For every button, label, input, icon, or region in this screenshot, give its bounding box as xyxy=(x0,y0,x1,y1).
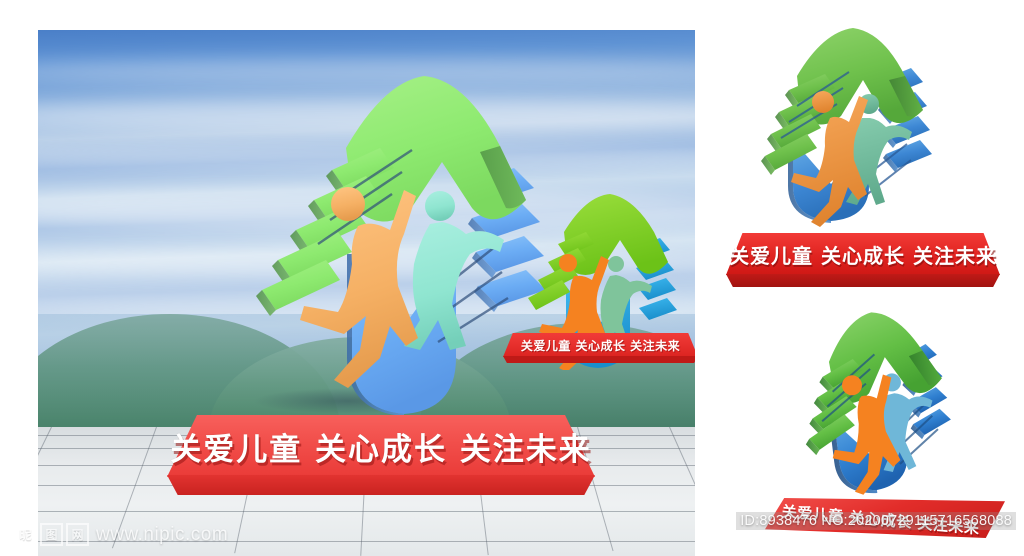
mid-banner-text: 关爱儿童 关心成长 关注未来 xyxy=(503,333,695,357)
variant-bottom-banner: 关爱儿童 关心成长 关注未来 xyxy=(765,498,1005,550)
mid-banner-edge xyxy=(503,356,695,363)
variant-top-banner-edge xyxy=(726,274,1000,287)
variant-perspective-logo: 关爱儿童 关心成长 关注未来 xyxy=(760,300,1010,550)
main-pedestal: 关爱儿童 关心成长 关注未来 xyxy=(167,415,595,495)
main-photo-render: 关爱儿童 关心成长 关注未来 关爱儿童 关心成长 关注未来 xyxy=(38,30,695,556)
paving-line xyxy=(38,511,695,512)
pedestal-front-edge xyxy=(167,475,595,495)
mid-logo-banner: 关爱儿童 关心成长 关注未来 xyxy=(503,333,695,363)
variant-top-banner: 关爱儿童 关心成长 关注未来 xyxy=(726,233,1000,287)
variant-top-banner-text: 关爱儿童 关心成长 关注未来 xyxy=(726,233,1000,275)
watermark-char: 昵 xyxy=(14,523,37,546)
variant-top-logo-svg xyxy=(753,18,973,233)
variant-bottom-logo xyxy=(790,300,970,505)
variant-bottom-logo-svg xyxy=(790,300,970,505)
variant-flat-logo: 关爱儿童 关心成长 关注未来 xyxy=(718,18,1008,288)
variant-top-logo xyxy=(753,18,973,233)
paving-line xyxy=(38,541,695,542)
poster-canvas: 关爱儿童 关心成长 关注未来 关爱儿童 关心成长 关注未来 xyxy=(0,0,1024,556)
pedestal-slogan: 关爱儿童 关心成长 关注未来 xyxy=(167,415,595,477)
paving-line xyxy=(112,427,157,548)
